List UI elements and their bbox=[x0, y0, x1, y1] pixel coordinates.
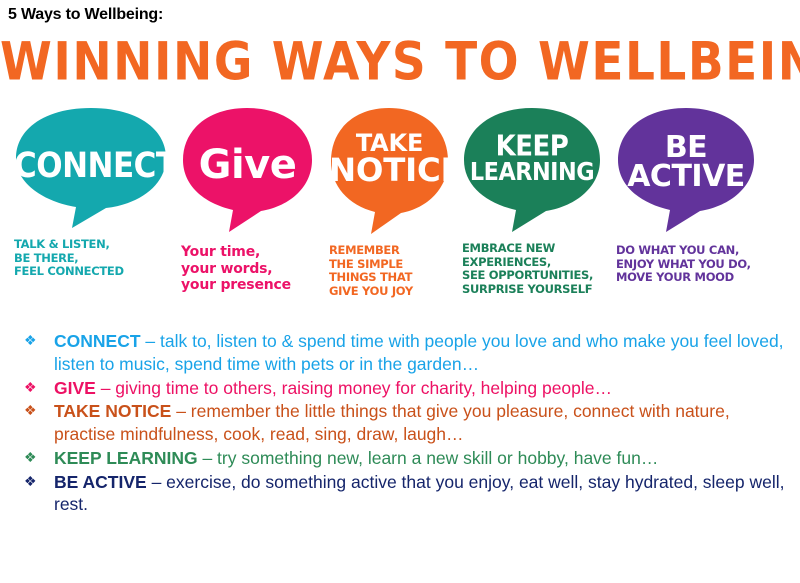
list-item-term: KEEP LEARNING bbox=[54, 448, 198, 468]
bubble-caption-take-notice: REMEMBER THE SIMPLE THINGS THAT GIVE YOU… bbox=[329, 244, 450, 298]
page-title: 5 Ways to Wellbeing: bbox=[8, 6, 163, 24]
caption-line: THINGS THAT bbox=[329, 271, 450, 285]
list-item-body: – exercise, do something active that you… bbox=[54, 472, 785, 515]
diamond-bullet-icon: ❖ bbox=[24, 377, 54, 399]
list-item-text: CONNECT – talk to, listen to & spend tim… bbox=[54, 330, 800, 376]
bubble-caption-connect: TALK & LISTEN, BE THERE, FEEL CONNECTED bbox=[14, 238, 168, 279]
speech-bubble-shape-be-active: BE ACTIVE bbox=[616, 106, 756, 234]
list-item: ❖ GIVE – giving time to others, raising … bbox=[0, 377, 800, 400]
speech-bubble-row: CONNECT TALK & LISTEN, BE THERE, FEEL CO… bbox=[0, 106, 800, 328]
diamond-bullet-icon: ❖ bbox=[24, 447, 54, 469]
bubble-path-keep-learning bbox=[464, 108, 600, 232]
caption-line: MOVE YOUR MOOD bbox=[616, 271, 756, 285]
list-item-text: TAKE NOTICE – remember the little things… bbox=[54, 400, 800, 446]
wellbeing-bullet-list: ❖ CONNECT – talk to, listen to & spend t… bbox=[0, 330, 800, 517]
bubble-path-take-notice bbox=[331, 108, 448, 234]
list-item-text: BE ACTIVE – exercise, do something activ… bbox=[54, 471, 800, 517]
list-item-term: CONNECT bbox=[54, 331, 141, 351]
bubble-be-active: BE ACTIVE DO WHAT YOU CAN, ENJOY WHAT YO… bbox=[616, 106, 756, 285]
caption-line: Your time, bbox=[181, 244, 314, 261]
caption-line: SURPRISE YOURSELF bbox=[462, 283, 602, 297]
list-item-term: BE ACTIVE bbox=[54, 472, 147, 492]
list-item-text: KEEP LEARNING – try something new, learn… bbox=[54, 447, 800, 470]
list-item-body: – giving time to others, raising money f… bbox=[96, 378, 612, 398]
list-item-body: – try something new, learn a new skill o… bbox=[198, 448, 659, 468]
list-item: ❖ TAKE NOTICE – remember the little thin… bbox=[0, 400, 800, 446]
bubble-take-notice: TAKE NOTICE REMEMBER THE SIMPLE THINGS T… bbox=[329, 106, 450, 298]
bubble-path-connect bbox=[16, 108, 166, 228]
diamond-bullet-icon: ❖ bbox=[24, 330, 54, 352]
caption-line: THE SIMPLE bbox=[329, 258, 450, 272]
caption-line: FEEL CONNECTED bbox=[14, 265, 168, 279]
list-item: ❖ CONNECT – talk to, listen to & spend t… bbox=[0, 330, 800, 376]
list-item-term: GIVE bbox=[54, 378, 96, 398]
caption-line: DO WHAT YOU CAN, bbox=[616, 244, 756, 258]
poster-headline: WINNING WAYS TO WELLBEING bbox=[0, 36, 800, 89]
wellbeing-poster: WINNING WAYS TO WELLBEING CONNECT TALK &… bbox=[0, 28, 800, 328]
bubble-path-be-active bbox=[618, 108, 754, 232]
caption-line: REMEMBER bbox=[329, 244, 450, 258]
bubble-give: Give Your time, your words, your presenc… bbox=[181, 106, 314, 294]
speech-bubble-shape-connect: CONNECT bbox=[14, 106, 168, 230]
diamond-bullet-icon: ❖ bbox=[24, 471, 54, 493]
caption-line: EXPERIENCES, bbox=[462, 256, 602, 270]
speech-bubble-shape-keep-learning: KEEP LEARNING bbox=[462, 106, 602, 234]
diamond-bullet-icon: ❖ bbox=[24, 400, 54, 422]
bubble-caption-give: Your time, your words, your presence bbox=[181, 244, 314, 294]
list-item-body: – talk to, listen to & spend time with p… bbox=[54, 331, 784, 374]
speech-bubble-shape-give: Give bbox=[181, 106, 314, 234]
bubble-keep-learning: KEEP LEARNING EMBRACE NEW EXPERIENCES, S… bbox=[462, 106, 602, 296]
list-item-term: TAKE NOTICE bbox=[54, 401, 171, 421]
caption-line: BE THERE, bbox=[14, 252, 168, 266]
caption-line: EMBRACE NEW bbox=[462, 242, 602, 256]
list-item: ❖ BE ACTIVE – exercise, do something act… bbox=[0, 471, 800, 517]
caption-line: ENJOY WHAT YOU DO, bbox=[616, 258, 756, 272]
list-item: ❖ KEEP LEARNING – try something new, lea… bbox=[0, 447, 800, 470]
caption-line: GIVE YOU JOY bbox=[329, 285, 450, 299]
caption-line: TALK & LISTEN, bbox=[14, 238, 168, 252]
bubble-caption-be-active: DO WHAT YOU CAN, ENJOY WHAT YOU DO, MOVE… bbox=[616, 244, 756, 285]
caption-line: your presence bbox=[181, 277, 314, 294]
caption-line: your words, bbox=[181, 261, 314, 278]
bubble-path-give bbox=[183, 108, 312, 232]
speech-bubble-shape-take-notice: TAKE NOTICE bbox=[329, 106, 450, 236]
bubble-caption-keep-learning: EMBRACE NEW EXPERIENCES, SEE OPPORTUNITI… bbox=[462, 242, 602, 296]
caption-line: SEE OPPORTUNITIES, bbox=[462, 269, 602, 283]
bubble-connect: CONNECT TALK & LISTEN, BE THERE, FEEL CO… bbox=[14, 106, 168, 279]
list-item-text: GIVE – giving time to others, raising mo… bbox=[54, 377, 800, 400]
